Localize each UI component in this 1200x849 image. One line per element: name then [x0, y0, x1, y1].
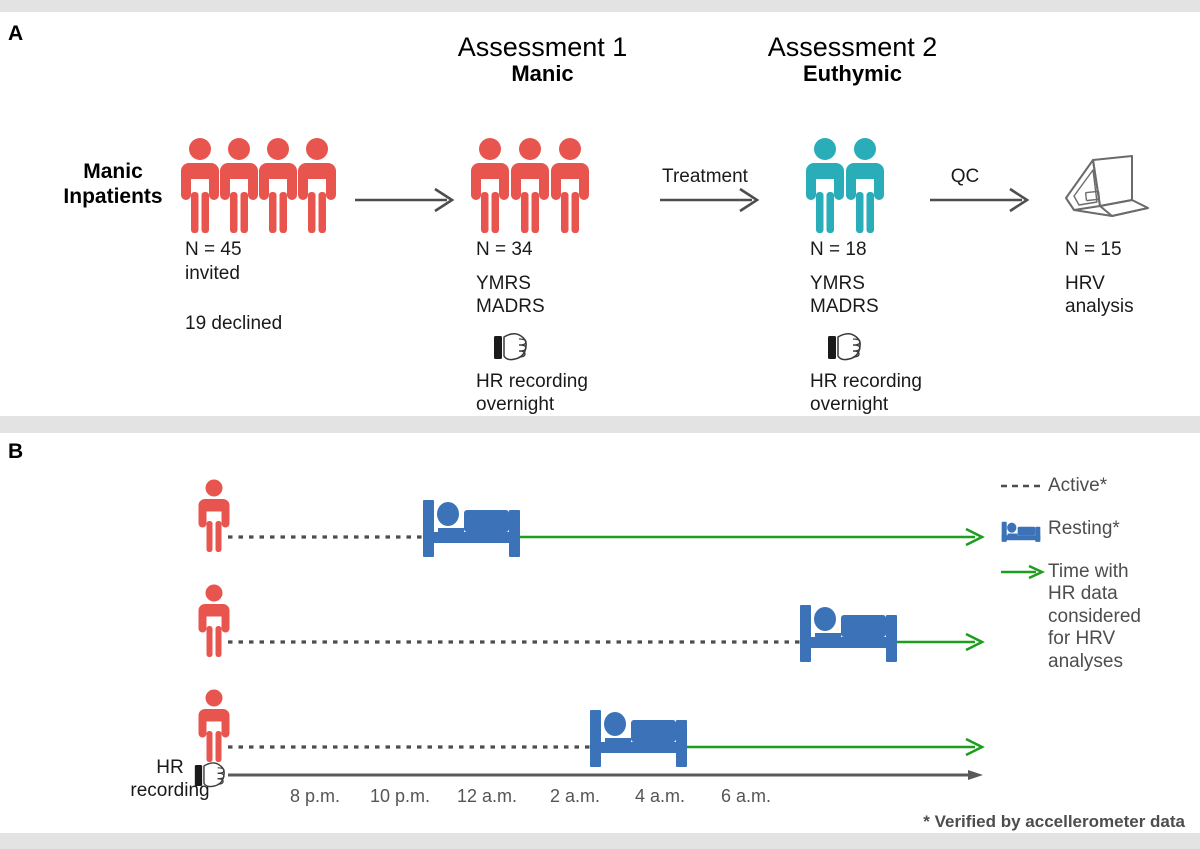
separator-band-bottom: [0, 833, 1200, 849]
stage-assessment-2-measures: YMRS MADRS: [810, 272, 879, 318]
assessment-1-title: Assessment 1: [430, 32, 655, 62]
separator-band-middle: [0, 416, 1200, 433]
assessment-2-title: Assessment 2: [740, 32, 965, 62]
bed-icon-legend: [1000, 518, 1042, 544]
arrow-treatment-icon: [660, 185, 770, 215]
stage-hrv-n: N = 15: [1065, 238, 1122, 261]
legend-active-label: Active*: [1048, 475, 1107, 497]
hr-recording-hand-icon-2: [826, 328, 872, 368]
separator-band-top: [0, 0, 1200, 12]
stage-assessment-1-n: N = 34: [476, 238, 533, 261]
stage-assessment-1-measures: YMRS MADRS: [476, 272, 545, 318]
people-group-icon-assessment-1: [470, 135, 591, 235]
stage-invited-declined: 19 declined: [185, 312, 282, 335]
stage-assessment-2-recording: HR recording overnight: [810, 370, 922, 416]
people-group-icon-invited: [180, 135, 340, 235]
assessment-1-header: Assessment 1 Manic: [430, 32, 655, 87]
stage-invited-n: N = 45: [185, 238, 242, 261]
dashed-line-icon: [1000, 478, 1042, 494]
panel-letter-b: B: [8, 440, 23, 464]
hr-recording-hand-icon-1: [492, 328, 538, 368]
stage-invited-sub: invited: [185, 262, 240, 285]
green-arrow-icon: [1000, 563, 1045, 581]
legend-resting-label: Resting*: [1048, 518, 1120, 540]
arrow-1-icon: [355, 185, 465, 215]
bed-icon-row-2: [800, 605, 897, 662]
stage-assessment-1-recording: HR recording overnight: [476, 370, 588, 416]
bed-icon-row-3: [590, 710, 687, 767]
legend-hrv-label: Time with HR data considered for HRV ana…: [1048, 561, 1141, 673]
laptop-icon: [1060, 152, 1160, 232]
assessment-2-state: Euthymic: [740, 62, 965, 87]
arrow-qc-icon: [930, 185, 1040, 215]
timeline-row-1: [180, 470, 1000, 570]
axis-tick-5: 6 a.m.: [691, 786, 801, 807]
bed-icon-row-1: [423, 500, 520, 557]
people-group-icon-assessment-2: [805, 135, 887, 235]
manic-inpatients-label: Manic Inpatients: [48, 160, 178, 210]
stage-hrv-analysis: HRV analysis: [1065, 272, 1134, 318]
assessment-1-state: Manic: [430, 62, 655, 87]
stage-assessment-2-n: N = 18: [810, 238, 867, 261]
footnote-accelerometer: * Verified by accellerometer data: [700, 812, 1185, 832]
panel-letter-a: A: [8, 22, 23, 46]
assessment-2-header: Assessment 2 Euthymic: [740, 32, 965, 87]
figure-root: A Assessment 1 Manic Assessment 2 Euthym…: [0, 0, 1200, 849]
timeline-row-2: [180, 575, 1000, 675]
